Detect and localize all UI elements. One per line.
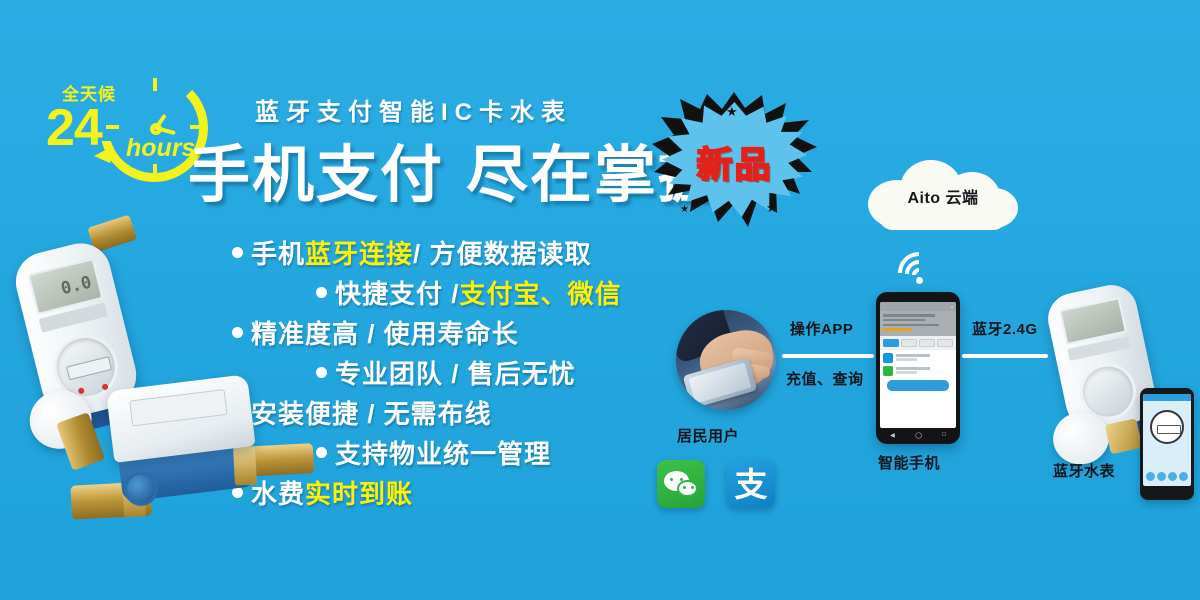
list-item: 手机蓝牙连接 / 方便数据读取 <box>232 232 702 272</box>
phone-app-titlebar: ‹● <box>880 302 956 311</box>
list-item: 安装便捷 / 无需布线 <box>232 392 702 432</box>
meter-lcd-value: 0.0 <box>59 272 94 299</box>
bullet-dot-icon <box>232 247 243 258</box>
smartphone-device: ‹● ◀ <box>876 292 960 444</box>
wechat-eye <box>691 486 694 489</box>
phone-button[interactable] <box>901 339 917 347</box>
bullet-dot-icon <box>316 287 327 298</box>
phone-button-row[interactable] <box>880 336 956 350</box>
brass-fitting <box>1105 418 1143 454</box>
phone-navigation-bar[interactable]: ◀ ◯ □ <box>880 428 956 442</box>
wechat-pay-icon <box>657 460 705 508</box>
diagram-link-label-operate-app: 操作APP <box>790 318 853 339</box>
phone-button[interactable] <box>919 339 935 347</box>
diagram-label-user: 居民用户 <box>677 425 739 446</box>
wifi-dot <box>916 277 923 284</box>
secondary-phone-screen <box>1143 394 1191 486</box>
action-button[interactable] <box>1157 472 1166 481</box>
feature-prefix: 快捷支付 / <box>335 274 459 311</box>
meter-register <box>66 356 112 380</box>
feature-highlight: 实时到账 <box>305 474 413 511</box>
recents-icon[interactable]: □ <box>942 432 946 438</box>
list-item: 快捷支付 / 支付宝、微信 <box>232 272 702 312</box>
action-button[interactable] <box>1179 472 1188 481</box>
wifi-icon <box>898 250 940 284</box>
phone-button[interactable] <box>937 339 953 347</box>
wechat-pay-icon <box>883 366 893 376</box>
promo-banner: 全天候 24 hours 蓝牙支付智能IC卡水表 手机支付尽在掌握 新品 ★ ★… <box>0 0 1200 600</box>
alipay-icon <box>883 353 893 363</box>
secondary-smartphone-device <box>1140 388 1194 500</box>
feature-prefix: 精准度高 / 使用寿命长 <box>251 314 519 351</box>
meter-reading-gauge <box>1150 410 1184 444</box>
secondary-phone-titlebar <box>1143 394 1191 401</box>
payment-icons-row: 支 <box>657 460 775 508</box>
bullet-dot-icon <box>316 367 327 378</box>
action-button[interactable] <box>1168 472 1177 481</box>
wechat-eye <box>683 486 686 489</box>
alipay-glyph: 支 <box>727 460 775 508</box>
badge-number: 24 <box>46 102 102 154</box>
sparkle-star-icon: ★ <box>766 200 778 216</box>
meter-label-plate <box>129 389 227 427</box>
secondary-phone-actions[interactable] <box>1146 472 1188 481</box>
phone-payment-option-wechat[interactable] <box>883 366 953 376</box>
feature-highlight: 支付宝、微信 <box>459 274 621 311</box>
phone-info-panel <box>880 311 956 336</box>
feature-prefix: 专业团队 / 售后无忧 <box>335 354 576 391</box>
action-button[interactable] <box>1146 472 1155 481</box>
diagram-label-smartphone: 智能手机 <box>878 452 940 473</box>
clock-tick-top <box>153 78 157 91</box>
diagram-label-meter: 蓝牙水表 <box>1053 460 1115 481</box>
feature-suffix: / 方便数据读取 <box>413 234 591 271</box>
meter-digits <box>1157 425 1181 434</box>
sparkle-star-icon: ★ <box>680 204 689 215</box>
feature-prefix: 手机 <box>251 234 305 271</box>
banner-title: 手机支付尽在掌握 <box>188 124 722 214</box>
banner-title-part1: 手机支付 <box>188 141 444 210</box>
clock-tick-left <box>106 125 119 129</box>
wechat-eye <box>670 478 673 481</box>
new-product-starburst: 新品 ★ ★ ★ ★ <box>652 92 817 227</box>
sparkle-star-icon: ★ <box>726 104 738 120</box>
diagram-connector-1 <box>782 354 874 358</box>
new-product-label: 新品 <box>652 136 817 188</box>
resident-user-photo <box>676 310 776 410</box>
sparkle-star-icon: ★ <box>670 120 682 136</box>
cloud-label: Aito 云端 <box>862 184 1024 208</box>
list-item: 精准度高 / 使用寿命长 <box>232 312 702 352</box>
phone-payment-list[interactable] <box>880 350 956 394</box>
wechat-bubble-small <box>677 480 698 497</box>
feature-highlight: 蓝牙连接 <box>305 234 413 271</box>
brass-nut <box>233 446 257 485</box>
device-screen <box>689 363 752 404</box>
phone-payment-option-alipay[interactable] <box>883 353 953 363</box>
valve-water-meter-photo <box>64 365 311 542</box>
phone-screen: ‹● <box>880 302 956 428</box>
home-icon[interactable]: ◯ <box>915 432 922 439</box>
phone-button[interactable] <box>883 339 899 347</box>
banner-subtitle: 蓝牙支付智能IC卡水表 <box>255 92 572 127</box>
feature-prefix: 支持物业统一管理 <box>335 434 551 471</box>
cloud-badge: Aito 云端 <box>862 156 1024 234</box>
bullet-dot-icon <box>316 447 327 458</box>
badge-unit: hours <box>126 134 195 163</box>
list-item: 专业团队 / 售后无忧 <box>232 352 702 392</box>
phone-confirm-button[interactable] <box>887 380 949 391</box>
bullet-dot-icon <box>232 327 243 338</box>
diagram-link-label-recharge-query: 充值、查询 <box>786 368 864 389</box>
alipay-icon: 支 <box>727 460 775 508</box>
back-icon[interactable]: ◀ <box>890 432 895 439</box>
clock-tick-bottom <box>153 164 157 177</box>
handheld-device <box>683 357 758 408</box>
